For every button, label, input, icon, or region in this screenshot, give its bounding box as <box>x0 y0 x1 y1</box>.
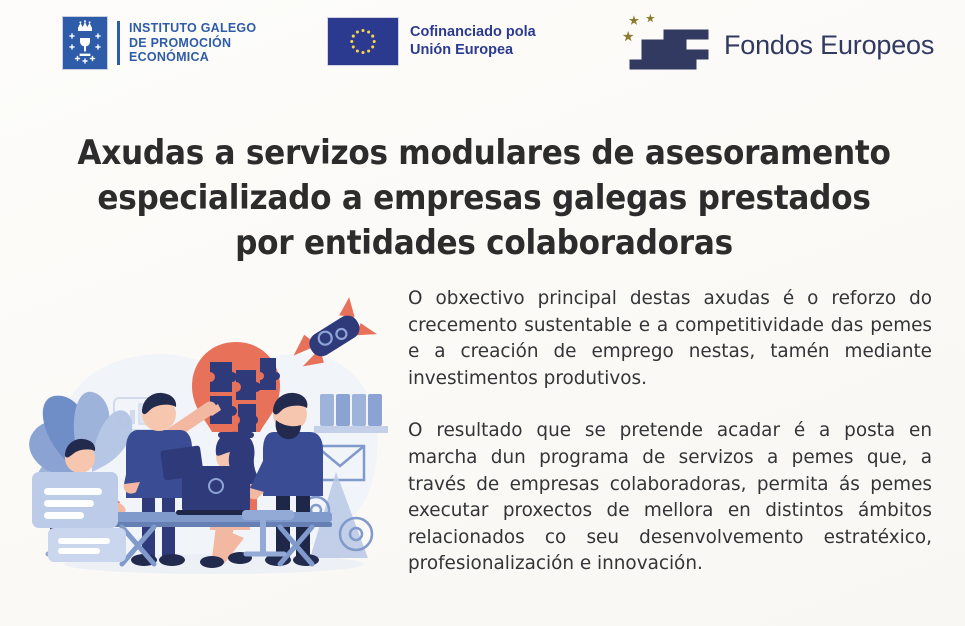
page-title: Axudas a servizos modulares de asesorame… <box>66 130 903 265</box>
logo-european-union: Cofinanciado pola Unión Europea <box>327 17 536 66</box>
eu-line-2: Unión Europea <box>410 42 536 60</box>
logo-divider <box>117 21 120 65</box>
logo-bar: INSTITUTO GALEGO DE PROMOCIÓN ECONÓMICA <box>0 0 965 86</box>
igape-wordmark: INSTITUTO GALEGO DE PROMOCIÓN ECONÓMICA <box>129 21 256 65</box>
paragraph-1: O obxectivo principal destas axudas é o … <box>408 286 932 392</box>
igape-line-2: DE PROMOCIÓN <box>129 36 256 51</box>
paragraph-2: O resultado que se pretende acadar é a p… <box>408 418 932 578</box>
eu-wordmark: Cofinanciado pola Unión Europea <box>410 24 536 59</box>
team-collaboration-illustration <box>4 296 396 616</box>
eu-flag-icon <box>327 17 399 66</box>
galicia-coat-of-arms-icon <box>62 16 108 70</box>
document-page: INSTITUTO GALEGO DE PROMOCIÓN ECONÓMICA <box>0 0 965 626</box>
eu-line-1: Cofinanciado pola <box>410 24 536 42</box>
fondos-europeos-label: Fondos Europeos <box>724 30 934 61</box>
document-cards <box>32 472 126 562</box>
laptop <box>176 466 256 515</box>
stepped-bars-stars-icon <box>620 8 712 83</box>
logo-fondos-europeos: Fondos Europeos <box>620 8 934 83</box>
body-text: O obxectivo principal destas axudas é o … <box>408 286 932 578</box>
igape-line-1: INSTITUTO GALEGO <box>129 21 256 36</box>
logo-igape: INSTITUTO GALEGO DE PROMOCIÓN ECONÓMICA <box>62 16 256 70</box>
igape-line-3: ECONÓMICA <box>129 50 256 65</box>
